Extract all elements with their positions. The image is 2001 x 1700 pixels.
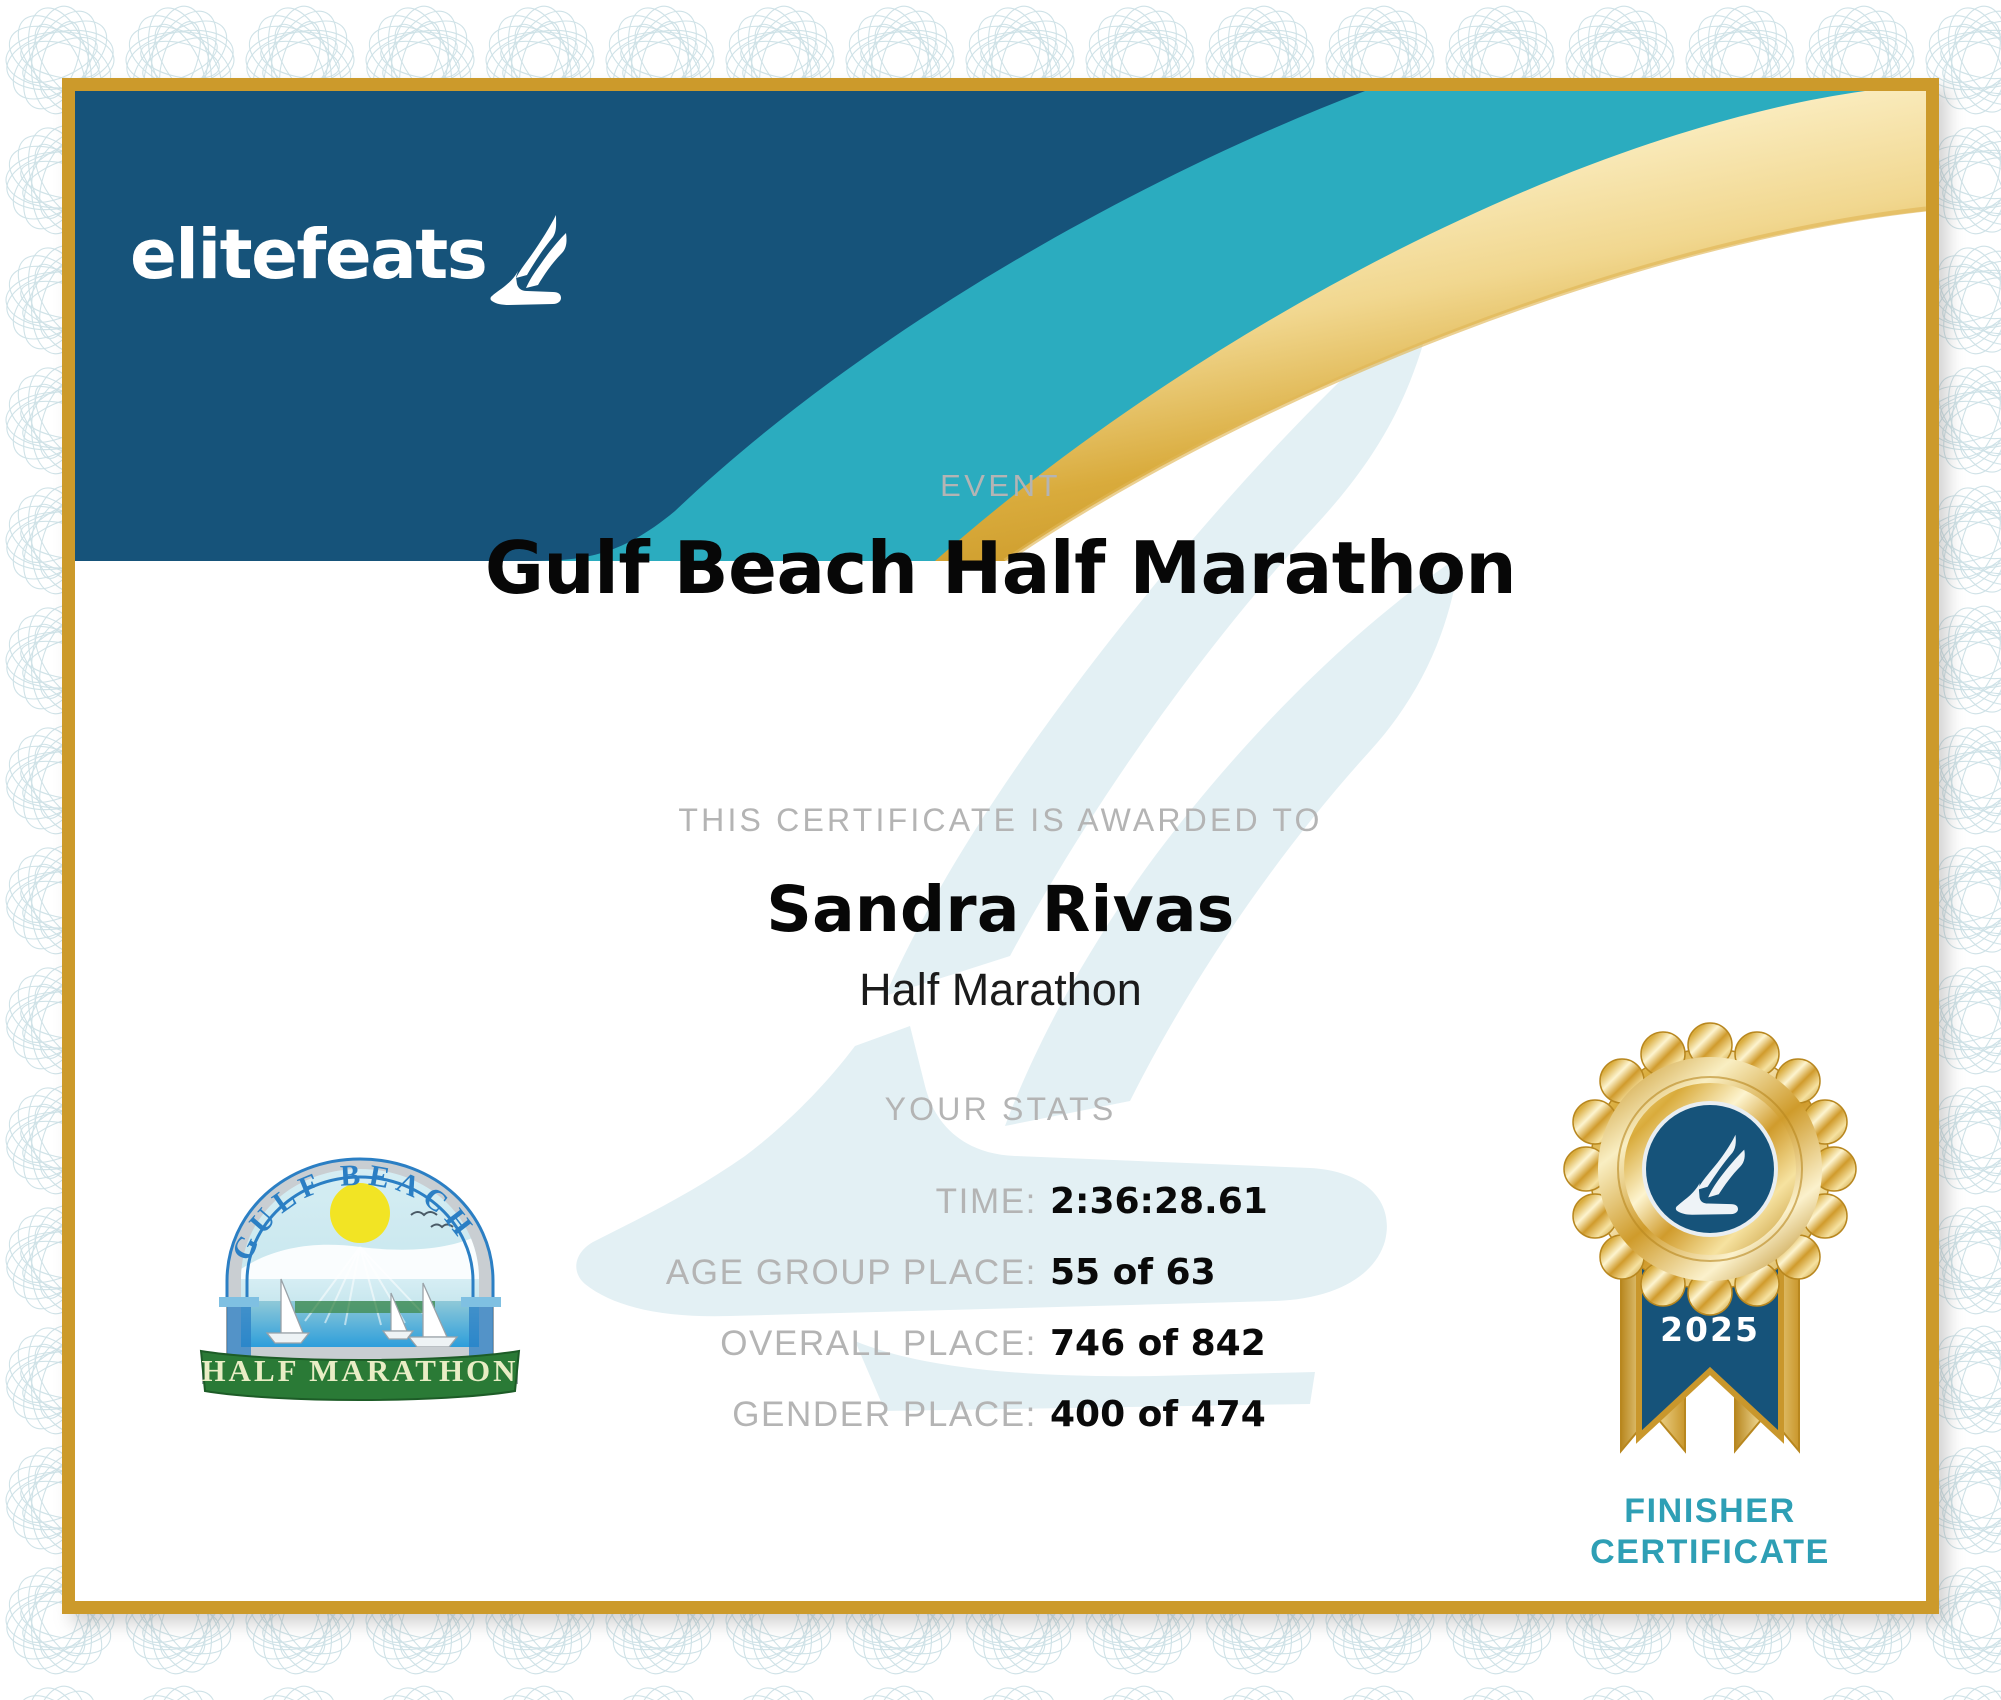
finisher-caption-line1: FINISHER [1505,1491,1915,1532]
stat-value: 55 of 63 [1050,1252,1300,1293]
recipient-name: Sandra Rivas [75,873,1926,946]
finisher-caption-line2: CERTIFICATE [1505,1532,1915,1573]
stat-row-age-group-place: AGE GROUP PLACE: 55 of 63 [530,1252,1300,1323]
awarded-to-label: THIS CERTIFICATE IS AWARDED TO [75,802,1926,839]
stat-value: 746 of 842 [1050,1323,1300,1364]
gulf-beach-half-marathon-logo-icon: GULF BEACH HALF MARATHON [185,1151,535,1441]
stat-row-gender-place: GENDER PLACE: 400 of 474 [530,1394,1300,1465]
event-label: EVENT [75,468,1926,504]
finisher-medal-icon: 2025 [1535,1021,1885,1491]
stat-row-overall-place: OVERALL PLACE: 746 of 842 [530,1323,1300,1394]
stat-key: OVERALL PLACE: [720,1324,1037,1364]
certificate-page: elitefeats EVENT Gulf Beach Half Maratho… [0,0,2001,1700]
finisher-certificate-caption: FINISHER CERTIFICATE [1505,1491,1915,1574]
medal-year: 2025 [1660,1310,1760,1349]
stat-row-time: TIME: 2:36:28.61 [530,1181,1300,1252]
certificate-content: EVENT Gulf Beach Half Marathon THIS CERT… [75,91,1926,1601]
stats-table: TIME: 2:36:28.61 AGE GROUP PLACE: 55 of … [530,1181,1300,1465]
stat-value: 400 of 474 [1050,1394,1300,1435]
certificate-frame: elitefeats EVENT Gulf Beach Half Maratho… [62,78,1939,1614]
svg-text:HALF MARATHON: HALF MARATHON [201,1353,518,1388]
recipient-division: Half Marathon [75,964,1926,1016]
stat-value: 2:36:28.61 [1050,1181,1300,1222]
stat-key: TIME: [936,1182,1037,1222]
certificate-body: elitefeats EVENT Gulf Beach Half Maratho… [75,91,1926,1601]
stat-key: GENDER PLACE: [732,1395,1037,1435]
event-title: Gulf Beach Half Marathon [75,526,1926,610]
stat-key: AGE GROUP PLACE: [666,1253,1037,1293]
